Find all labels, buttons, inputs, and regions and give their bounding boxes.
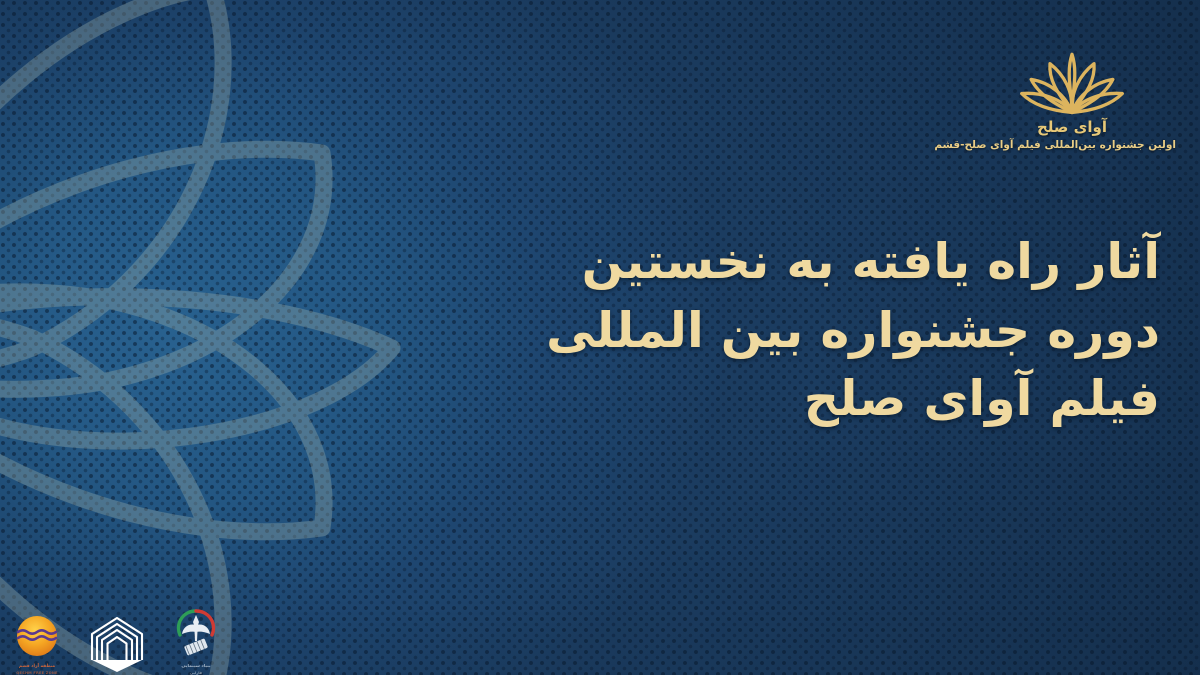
headline-line-1: آثار راه یافته به نخستین (520, 228, 1160, 297)
sponsor-qeshm-free-zone: منطقه آزاد قشم QESHM FREE ZONE (8, 611, 66, 675)
lotus-icon (1017, 46, 1127, 116)
dove-circle-icon (168, 601, 224, 663)
festival-logo: آوای صلح اولین جشنواره بین‌المللی فیلم آ… (968, 46, 1176, 152)
hexagon-tunnel-icon (88, 614, 146, 674)
sponsor-caption: منطقه آزاد قشم (19, 664, 55, 670)
sponsor-farabi-cinema-foundation: بنیاد سینمایی فارابی (168, 601, 224, 675)
brand-subtitle: اولین جشنواره بین‌المللی فیلم آوای صلح-ق… (968, 139, 1176, 152)
headline-line-2: دوره جشنواره بین المللی (520, 297, 1160, 366)
sponsor-caption-sub: QESHM FREE ZONE (16, 671, 57, 675)
page-title: آثار راه یافته به نخستین دوره جشنواره بی… (520, 228, 1160, 434)
festival-banner: آوای صلح اولین جشنواره بین‌المللی فیلم آ… (0, 0, 1200, 675)
sun-wave-circle-icon (8, 611, 66, 663)
brand-name: آوای صلح (968, 119, 1176, 136)
sponsor-hexagon-org (88, 614, 146, 675)
headline-line-3: فیلم آوای صلح (520, 365, 1160, 434)
sponsor-caption-sub: فارابی (190, 671, 202, 675)
sponsor-logo-strip: منطقه آزاد قشم QESHM FREE ZONE (0, 587, 270, 675)
sponsor-caption: بنیاد سینمایی (181, 664, 210, 670)
